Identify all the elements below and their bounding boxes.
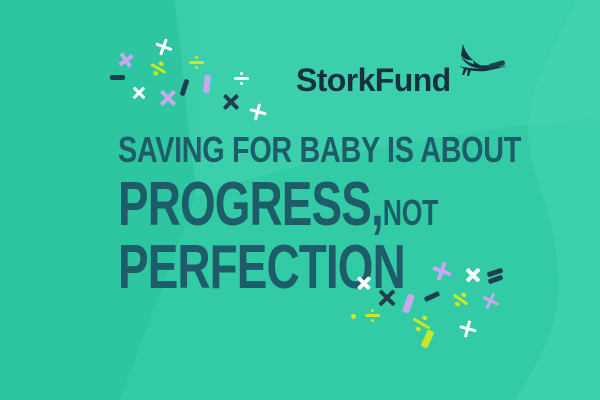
headline-line-2: PROGRESS,NOT: [118, 174, 429, 236]
headline-block: SAVING FOR BABY IS ABOUT PROGRESS,NOT PE…: [118, 132, 538, 299]
headline-line-1: SAVING FOR BABY IS ABOUT: [118, 132, 454, 168]
headline-progress-text: PROGRESS,: [118, 170, 383, 239]
brand-wordmark: StorkFund: [296, 64, 451, 96]
headline-line-3: PERFECTION: [118, 237, 429, 299]
brand-logo[interactable]: StorkFund: [296, 42, 511, 104]
stork-bird-icon: [446, 42, 510, 82]
poster-canvas: StorkFund SAVING FOR BABY IS ABOUT PROGR…: [0, 0, 600, 400]
headline-not-text: NOT: [383, 192, 438, 233]
